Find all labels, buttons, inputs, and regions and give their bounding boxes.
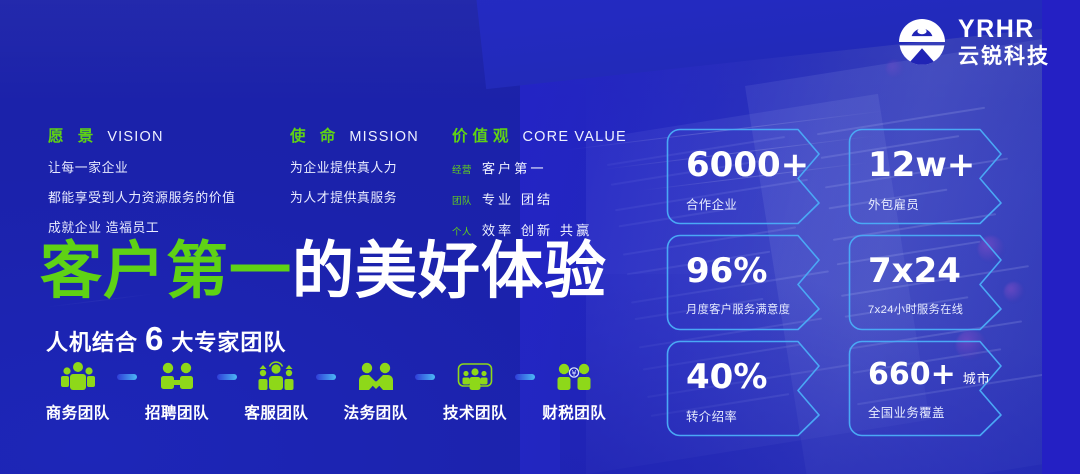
core-value-text: 专业 团结: [482, 189, 553, 208]
svg-text:¥: ¥: [572, 369, 577, 378]
page-title: 客户第一的美好体验: [40, 240, 607, 302]
stat-card-body: 96% 月度客户服务满意度: [686, 254, 804, 317]
people-money-icon: ¥: [553, 360, 595, 394]
stat-card-service-hours[interactable]: 7x24 7x24小时服务在线: [848, 234, 1012, 331]
pillar-vision-line-2: 都能享受到人力资源服务的价值: [48, 187, 290, 206]
people-group-icon: [57, 360, 99, 394]
team-label: 商务团队: [46, 401, 110, 423]
brand-name-cn: 云锐科技: [958, 46, 1050, 67]
team-label: 技术团队: [443, 401, 507, 423]
brand-logo: YRHR 云锐科技: [897, 16, 1050, 68]
core-value-key: 团队: [452, 193, 472, 207]
team-item-technology[interactable]: 技术团队: [433, 360, 516, 423]
pillar-core-value-title-cn: 价值观: [452, 124, 514, 146]
sub-title: 人机结合 6 大专家团队: [46, 322, 286, 357]
pillar-vision-title-en: VISION: [107, 129, 163, 145]
stat-card-body: 660+ 城市 全国业务覆盖: [868, 360, 986, 421]
stat-card-satisfaction[interactable]: 96% 月度客户服务满意度: [666, 234, 830, 331]
core-value-row: 团队 专业 团结: [452, 189, 672, 208]
stat-value-text: 7x24: [868, 254, 961, 288]
team-item-business[interactable]: 商务团队: [36, 360, 119, 423]
stat-value: 12w+: [868, 148, 986, 182]
stat-value: 40%: [686, 360, 804, 394]
stat-card-body: 6000+ 合作企业: [686, 148, 804, 213]
stat-value: 6000+: [686, 148, 804, 182]
team-item-support[interactable]: 客服团队: [235, 360, 318, 423]
pillar-mission-line-2: 为人才提供真服务: [290, 187, 452, 206]
pillars-row: 愿 景 VISION 让每一家企业 都能享受到人力资源服务的价值 成就企业 造福…: [48, 124, 672, 239]
stat-card-body: 12w+ 外包雇员: [868, 148, 986, 213]
pillar-vision-title-cn: 愿 景: [48, 124, 98, 146]
pillar-vision-line-1: 让每一家企业: [48, 157, 290, 176]
team-label: 招聘团队: [145, 401, 209, 423]
team-label: 财税团队: [542, 401, 606, 423]
pillar-mission-line-1: 为企业提供真人力: [290, 157, 452, 176]
core-value-row: 经营 客户第一: [452, 158, 672, 177]
team-label: 法务团队: [344, 401, 408, 423]
pillar-core-value-title-en: CORE VALUE: [523, 129, 627, 145]
pillar-vision: 愿 景 VISION 让每一家企业 都能享受到人力资源服务的价值 成就企业 造福…: [48, 124, 290, 239]
pillar-core-value-heading: 价值观 CORE VALUE: [452, 124, 672, 146]
people-support-arrows-icon: [255, 360, 297, 394]
stat-card-body: 40% 转介绍率: [686, 360, 804, 425]
stat-value-suffix: 城市: [963, 373, 991, 390]
stat-value-text: 6000+: [686, 148, 809, 182]
brand-logo-text: YRHR 云锐科技: [958, 17, 1050, 67]
stat-label: 全国业务覆盖: [868, 403, 986, 421]
team-item-finance[interactable]: ¥ 财税团队: [533, 360, 616, 423]
team-item-recruiting[interactable]: 招聘团队: [135, 360, 218, 423]
pillar-mission-heading: 使 命 MISSION: [290, 124, 452, 146]
pillar-mission-title-en: MISSION: [349, 129, 419, 145]
stat-card-outsourced-employees[interactable]: 12w+ 外包雇员: [848, 128, 1012, 225]
yrhr-circle-logo-icon: [897, 17, 947, 67]
people-in-screen-icon: [454, 360, 496, 394]
pillar-vision-heading: 愿 景 VISION: [48, 124, 290, 146]
stat-value-text: 12w+: [868, 148, 975, 182]
team-label: 客服团队: [244, 401, 308, 423]
pillar-mission-title-cn: 使 命: [290, 124, 340, 146]
core-value-key: 经营: [452, 162, 472, 176]
sub-title-number: 6: [145, 322, 164, 355]
stats-grid: 6000+ 合作企业 12w+ 外包雇员: [666, 128, 1052, 446]
stat-label: 外包雇员: [868, 195, 986, 213]
stat-label: 转介绍率: [686, 407, 804, 425]
pillar-mission: 使 命 MISSION 为企业提供真人力 为人才提供真服务: [290, 124, 452, 239]
stat-value-text: 40%: [686, 360, 767, 394]
banner-canvas: YRHR 云锐科技 愿 景 VISION 让每一家企业 都能享受到人力资源服务的…: [0, 0, 1080, 474]
stat-value: 7x24: [868, 254, 986, 288]
stat-value: 660+ 城市: [868, 360, 986, 390]
two-people-link-icon: [156, 360, 198, 394]
brand-name-en: YRHR: [958, 17, 1050, 42]
stat-value: 96%: [686, 254, 804, 288]
stat-card-body: 7x24 7x24小时服务在线: [868, 254, 986, 317]
stat-value-text: 96%: [686, 254, 767, 288]
stat-card-cities-covered[interactable]: 660+ 城市 全国业务覆盖: [848, 340, 1012, 437]
stats-row: 6000+ 合作企业 12w+ 外包雇员: [666, 128, 1052, 225]
stat-label: 月度客户服务满意度: [686, 301, 804, 317]
core-value-text: 客户第一: [482, 158, 547, 177]
sub-title-suffix: 大专家团队: [171, 325, 286, 357]
left-content: 愿 景 VISION 让每一家企业 都能享受到人力资源服务的价值 成就企业 造福…: [0, 0, 660, 474]
page-title-highlight: 客户第一: [40, 234, 292, 307]
page-title-rest: 的美好体验: [292, 234, 607, 307]
sub-title-prefix: 人机结合: [46, 325, 138, 357]
handshake-icon: [355, 360, 397, 394]
pillar-core-value: 价值观 CORE VALUE 经营 客户第一 团队 专业 团结 个人 效率 创新…: [452, 124, 672, 239]
stats-row: 96% 月度客户服务满意度 7x24 7x24小时服务在线: [666, 234, 1052, 331]
team-list: 商务团队 招聘团队: [36, 360, 616, 423]
stats-row: 40% 转介绍率 660+ 城市 全国业务覆盖: [666, 340, 1052, 437]
stat-card-partner-companies[interactable]: 6000+ 合作企业: [666, 128, 830, 225]
stat-label: 合作企业: [686, 195, 804, 213]
stat-value-text: 660+: [868, 360, 956, 390]
stat-card-referral-rate[interactable]: 40% 转介绍率: [666, 340, 830, 437]
stat-label: 7x24小时服务在线: [868, 301, 986, 317]
team-item-legal[interactable]: 法务团队: [334, 360, 417, 423]
